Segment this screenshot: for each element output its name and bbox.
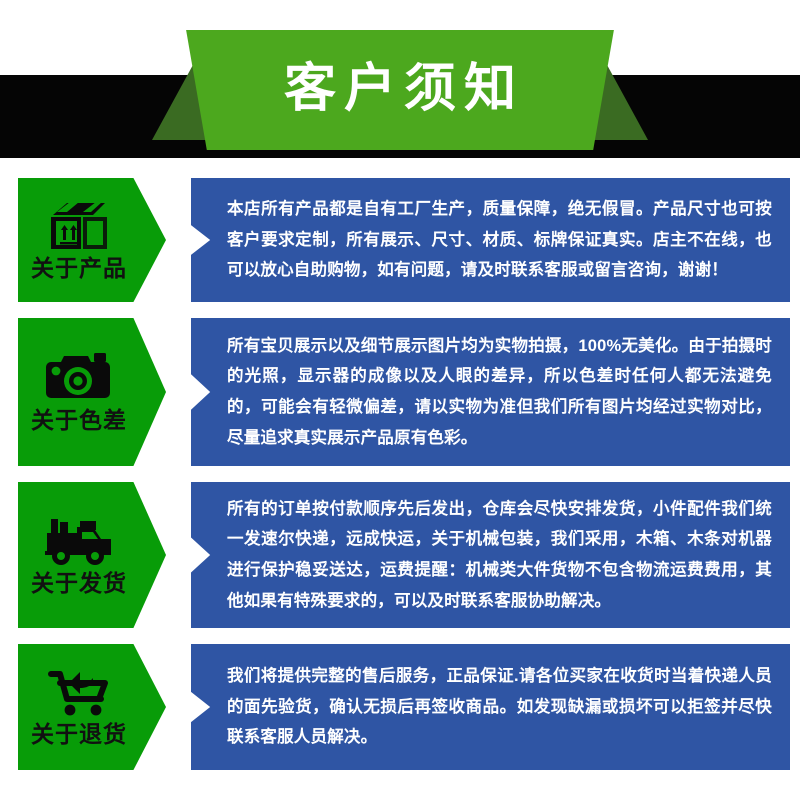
truck-icon	[41, 513, 117, 569]
badge-color[interactable]: 关于色差	[18, 318, 166, 466]
badge-product[interactable]: 关于产品	[18, 178, 166, 302]
notice-row-return: 关于退货 我们将提供完整的售后服务，正品保证.请各位买家在收货时当着快递人员的面…	[0, 644, 800, 770]
notice-panel-shipping: 所有的订单按付款顺序先后发出，仓库会尽快安排发货，小件配件我们统一发速尔快递，远…	[191, 482, 790, 628]
cardboard-box-icon	[47, 198, 111, 254]
notice-panel-product: 本店所有产品都是自有工厂生产，质量保障，绝无假冒。产品尺寸也可按客户要求定制，所…	[191, 178, 790, 302]
badge-shipping[interactable]: 关于发货	[18, 482, 166, 628]
page-title: 客户须知	[276, 63, 524, 117]
badge-label-return: 关于退货	[31, 722, 127, 747]
badge-label-shipping: 关于发货	[31, 571, 127, 596]
badge-label-color: 关于色差	[31, 408, 127, 433]
notice-sections: 关于产品 本店所有产品都是自有工厂生产，质量保障，绝无假冒。产品尺寸也可按客户要…	[0, 178, 800, 770]
badge-return[interactable]: 关于退货	[18, 644, 166, 770]
badge-label-product: 关于产品	[31, 256, 127, 281]
notice-row-shipping: 关于发货 所有的订单按付款顺序先后发出，仓库会尽快安排发货，小件配件我们统一发速…	[0, 482, 800, 628]
notice-row-product: 关于产品 本店所有产品都是自有工厂生产，质量保障，绝无假冒。产品尺寸也可按客户要…	[0, 178, 800, 302]
notice-text-product: 本店所有产品都是自有工厂生产，质量保障，绝无假冒。产品尺寸也可按客户要求定制，所…	[227, 194, 772, 286]
page-header-banner: 客户须知	[0, 0, 800, 160]
camera-icon	[44, 350, 114, 406]
notice-row-color: 关于色差 所有宝贝展示以及细节展示图片均为实物拍摄，100%无美化。由于拍摄时的…	[0, 318, 800, 466]
notice-text-shipping: 所有的订单按付款顺序先后发出，仓库会尽快安排发货，小件配件我们统一发速尔快递，远…	[227, 494, 772, 616]
notice-panel-color: 所有宝贝展示以及细节展示图片均为实物拍摄，100%无美化。由于拍摄时的光照，显示…	[191, 318, 790, 466]
banner-ribbon: 客户须知	[170, 30, 630, 150]
return-cart-icon	[43, 666, 115, 720]
notice-text-color: 所有宝贝展示以及细节展示图片均为实物拍摄，100%无美化。由于拍摄时的光照，显示…	[227, 331, 772, 453]
notice-text-return: 我们将提供完整的售后服务，正品保证.请各位买家在收货时当着快递人员的面先验货，确…	[227, 661, 772, 753]
notice-panel-return: 我们将提供完整的售后服务，正品保证.请各位买家在收货时当着快递人员的面先验货，确…	[191, 644, 790, 770]
